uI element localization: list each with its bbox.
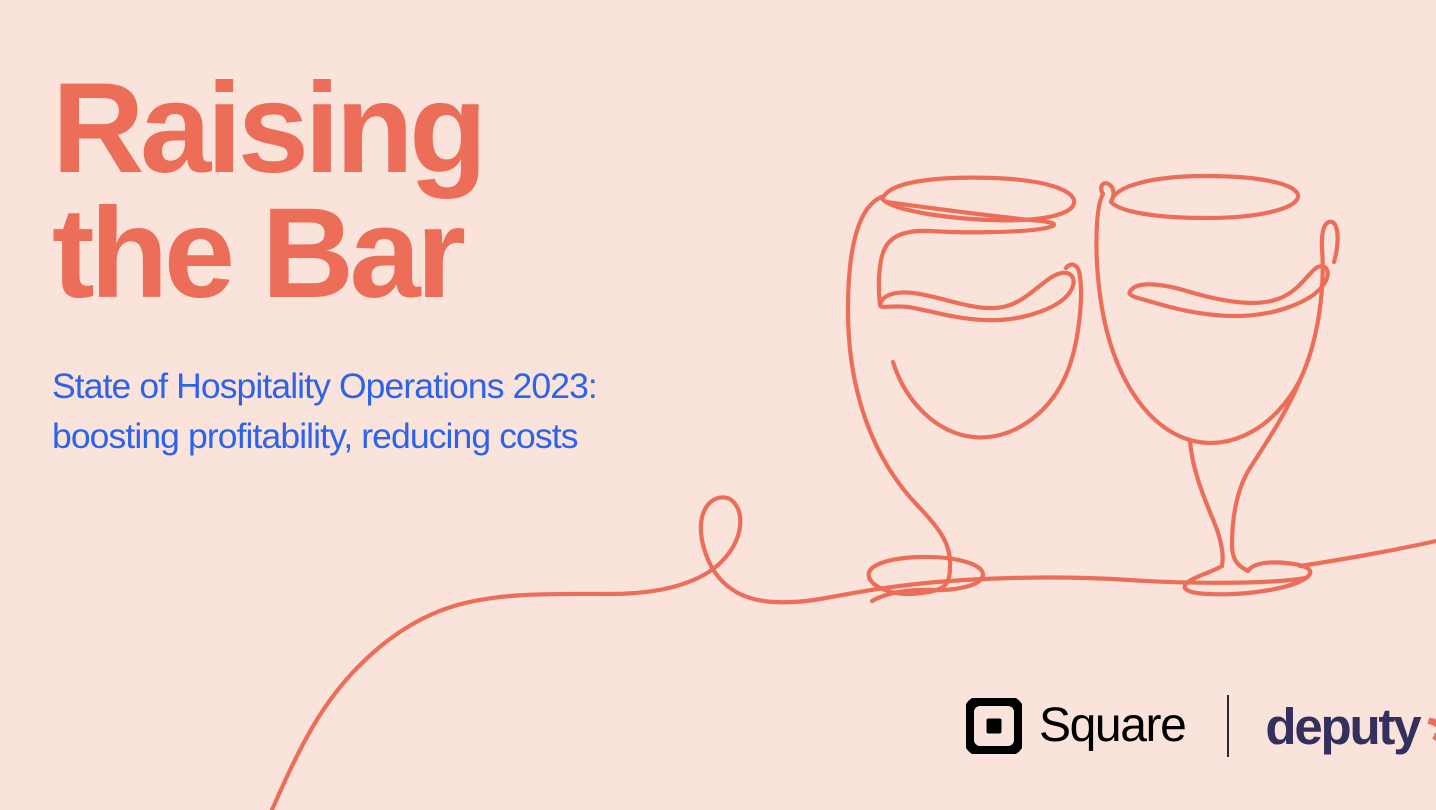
square-logo-mark [966,698,1022,754]
deputy-pinwheel-mark [1422,703,1436,749]
square-wordmark: Square [1039,702,1185,750]
deputy-wordmark: deputy [1265,701,1419,752]
logo-lockup: Square deputy [966,694,1436,758]
logo-divider [1227,695,1229,757]
page-title: Raising the Bar [52,66,772,317]
cover-page: Raising the Bar State of Hospitality Ope… [0,0,1436,810]
hero-text-block: Raising the Bar State of Hospitality Ope… [52,66,772,461]
deputy-logo: deputy [1265,701,1436,752]
page-subtitle: State of Hospitality Operations 2023: bo… [52,317,772,461]
square-logo: Square [966,698,1185,754]
